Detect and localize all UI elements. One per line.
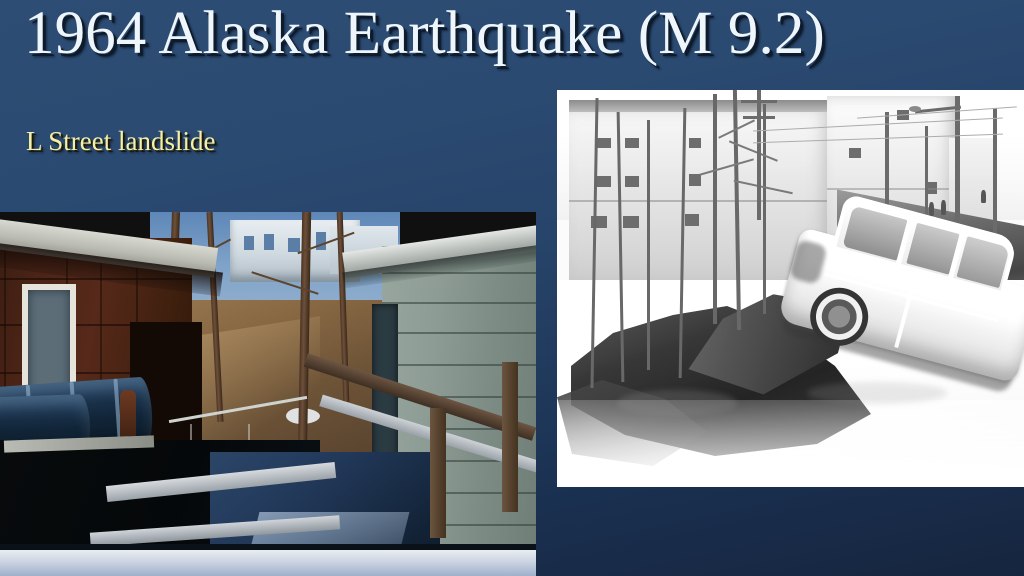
- slide-subtitle: L Street landslide: [26, 124, 215, 158]
- pole-crossarm: [743, 116, 775, 119]
- building-roofline: [569, 100, 834, 112]
- fence-post: [430, 408, 446, 538]
- streetlight-lamp: [909, 106, 921, 112]
- bare-tree: [713, 94, 717, 324]
- person-figure: [981, 190, 986, 203]
- utility-pole: [757, 90, 761, 220]
- bare-tree: [647, 120, 650, 370]
- left-photo-l-street-houses: [0, 212, 536, 576]
- slide: 1964 Alaska Earthquake (M 9.2) L Street …: [0, 0, 1024, 576]
- pole-crossarm: [741, 100, 777, 103]
- foreground-snow: [557, 400, 1024, 487]
- page-title: 1964 Alaska Earthquake (M 9.2): [24, 0, 825, 72]
- fence-post: [502, 362, 518, 512]
- bare-tree: [763, 104, 766, 314]
- right-photo-l-street-fissure: [557, 90, 1024, 487]
- photo-bottom-band: [0, 550, 536, 576]
- snow-shadow: [807, 382, 947, 404]
- snow-shadow: [617, 390, 737, 416]
